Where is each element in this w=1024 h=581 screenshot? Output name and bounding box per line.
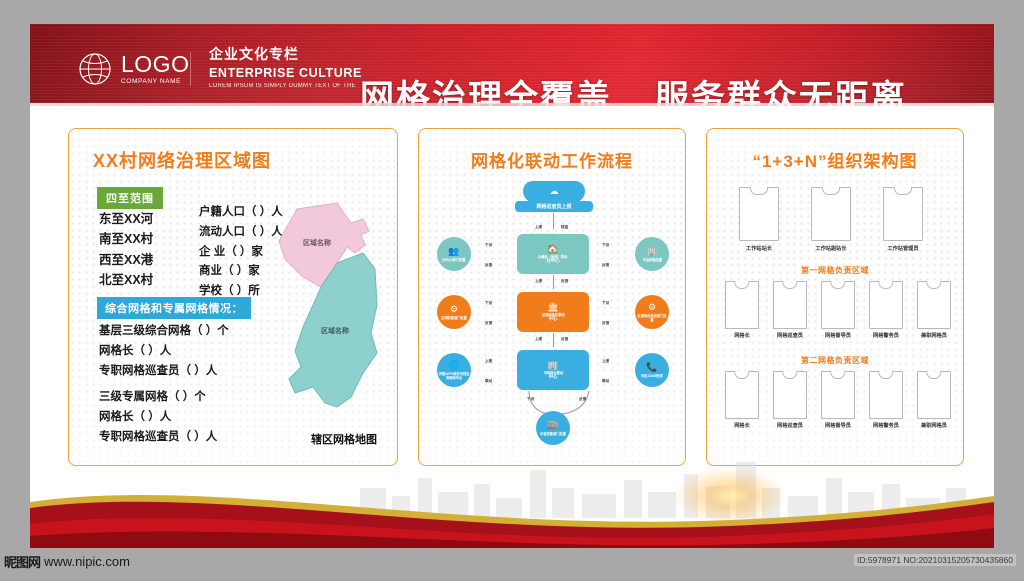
org-card-top: [883, 187, 923, 241]
org-card-label: 兼职网格员: [913, 422, 955, 429]
poster-canvas: LOGO COMPANY NAME 企业文化专栏 ENTERPRISE CULT…: [30, 24, 994, 548]
org-section-2-header: 第二网格负责区域: [707, 355, 963, 366]
poster-footer-wave: [30, 462, 994, 548]
enterprise-block: 企业文化专栏 ENTERPRISE CULTURE LOREM IPSUM IS…: [209, 46, 362, 89]
svg-text:区域名称: 区域名称: [321, 326, 349, 335]
flow-arrow-down-0: 核查: [561, 225, 568, 230]
grid-item: 专职网格巡查员（ ）人: [99, 361, 229, 381]
flow-node-label-line1: 市网格化联动: [543, 371, 562, 375]
gear-icon: ⚙: [648, 302, 656, 312]
logo-main-text: LOGO: [121, 53, 189, 76]
org-card-label: 网格长: [721, 332, 763, 339]
org-card-grid: [773, 281, 807, 329]
network-icon: 🌐: [448, 360, 459, 370]
flow-arrow-feedback-1r: 反馈: [602, 321, 609, 326]
scope-item: 北至XX村: [99, 270, 153, 290]
flow-node-district-dept: ⚙ 区域职能部门处置: [437, 295, 471, 329]
home-icon: 🏠: [547, 244, 558, 254]
flow-node-label: 专业网格处置: [642, 258, 661, 262]
org-card-label: 工作站管理员: [883, 245, 923, 252]
header-divider: [190, 52, 191, 86]
flow-arrow-dispatch-0r: 下派: [602, 243, 609, 248]
city-hall-icon: 🏢: [547, 360, 558, 370]
flow-arrow-up-1: 上报: [535, 279, 542, 284]
main-title-part1: 网格治理全覆盖: [360, 79, 612, 106]
org-card-top: [739, 187, 779, 241]
org-card-label: 网格督导员: [817, 422, 859, 429]
org-card-label: 网格警务员: [865, 332, 907, 339]
flow-node-street-center: 🏠 办事处（街道）联动 分中心: [517, 234, 589, 274]
org-card-grid: [821, 371, 855, 419]
flow-arrow-up-2: 上报: [535, 337, 542, 342]
flow-arrow-dispatch-0l: 下派: [485, 243, 492, 248]
red-wave-shape: [30, 462, 994, 548]
org-card-label: 网格巡查员: [769, 422, 811, 429]
scope-tag: 四至范围: [97, 187, 163, 209]
svg-text:区域名称: 区域名称: [303, 238, 331, 247]
logo-sub-text: COMPANY NAME: [121, 79, 189, 86]
flow-arrow-feedback-bottom: 反馈: [579, 397, 586, 402]
org-card-label: 网格长: [721, 422, 763, 429]
flow-node-hotline: 📞 市民12345热线: [635, 353, 669, 387]
flow-node-label: 分中心/部门处置: [442, 258, 465, 262]
office-icon: 🏛: [547, 302, 558, 312]
org-card-grid: [821, 281, 855, 329]
image-id-tag: ID:5978971 NO:20210315205730435860: [854, 554, 1016, 566]
org-card-grid: [869, 371, 903, 419]
panel-workflow: 网格化联动工作流程 ☁ 网格巡查员上报 上报 核查 （系统自动生成案卷） 👥 分…: [418, 128, 686, 466]
org-card-grid: [917, 281, 951, 329]
org-card-grid: [917, 371, 951, 419]
flow-node-label-line2: 分中心: [546, 259, 559, 264]
grid-item: 三级专属网格（ ）个: [99, 387, 217, 407]
flow-node-professional-grid: 🏢 专业网格处置: [635, 237, 669, 271]
enterprise-en: ENTERPRISE CULTURE: [209, 66, 362, 80]
scope-list: 东至XX河 南至XX村 西至XX港 北至XX村: [99, 209, 153, 290]
flow-arrow-report-2l: 上报: [485, 359, 492, 364]
panel-org-chart: “1+3+N”组织架构图 工作站站长 工作站副站长 工作站管理员 第一网格负责区…: [706, 128, 964, 466]
enterprise-cn: 企业文化专栏: [209, 46, 362, 64]
grid-tag: 综合网格和专属网格情况：: [97, 297, 251, 319]
brand-logo: LOGO COMPANY NAME: [78, 52, 189, 86]
org-card-label: 网格警务员: [865, 422, 907, 429]
flow-arrow-dispatch-1r: 下派: [602, 301, 609, 306]
globe-icon: [78, 52, 112, 86]
org-section-1-header: 第一网格负责区域: [707, 265, 963, 276]
flow-arrow-down-2: 反馈: [561, 337, 568, 342]
flow-node-label: 区域职能部门处置: [441, 316, 467, 320]
flow-node-label: 区域综合执法部门处置: [636, 314, 667, 321]
poster-header: LOGO COMPANY NAME 企业文化专栏 ENTERPRISE CULT…: [30, 24, 994, 106]
nipic-url: www.nipic.com: [44, 554, 130, 569]
org-card-grid: [773, 371, 807, 419]
flow-node-city-departments: 🏬 市各职能部门处置: [536, 411, 570, 445]
flow-node-label-line2: 中心: [549, 317, 558, 322]
panel-region-map: XX村网络治理区域图 四至范围 东至XX河 南至XX村 西至XX港 北至XX村 …: [68, 128, 398, 466]
flow-arrow-dispatch-bottom: 下派: [527, 397, 534, 402]
grid-item: 网格长（ ）人: [99, 341, 229, 361]
grid-group-2: 三级专属网格（ ）个 网格长（ ）人 专职网格巡查员（ ）人: [99, 387, 217, 447]
grid-item: 网格长（ ）人: [99, 407, 217, 427]
flow-node-sub-center: 👥 分中心/部门处置: [437, 237, 471, 271]
flow-arrow-link-2r: 联动: [602, 379, 609, 384]
workflow-diagram: ☁ 网格巡查员上报 上报 核查 （系统自动生成案卷） 👥 分中心/部门处置 🏠 …: [419, 129, 685, 465]
flow-arrow-down-1: 反馈: [561, 279, 568, 284]
main-title-part2: 服务群众无距离: [655, 79, 907, 106]
watermark-bar: 昵图网 www.nipic.com ID:5978971 NO:20210315…: [0, 548, 1024, 581]
flow-arrow-feedback-0l: 反馈: [485, 263, 492, 268]
light-flare: [670, 466, 790, 526]
logo-text: LOGO COMPANY NAME: [121, 53, 189, 86]
flow-node-label-line1: 区域网格化联动: [542, 313, 565, 317]
poster-main-title: 网格治理全覆盖 服务群众无距离: [360, 70, 907, 106]
grid-item: 专职网格巡查员（ ）人: [99, 427, 217, 447]
flow-cloud-label: 网格巡查员上报: [515, 201, 593, 212]
flow-node-label-line2: 中心: [549, 375, 558, 380]
flow-node-label: 市各职能部门处置: [540, 432, 566, 436]
flow-connector-v2: [553, 333, 554, 347]
flow-node-report-cloud: ☁: [523, 181, 585, 203]
org-card-grid: [725, 371, 759, 419]
phone-icon: 📞: [646, 362, 657, 372]
org-card-grid: [725, 281, 759, 329]
people-icon: 👥: [448, 246, 459, 256]
flow-node-label-line1: 办事处（街道）联动: [539, 255, 568, 259]
flow-connector-v0: [553, 213, 554, 229]
gear-icon: ⚙: [450, 304, 458, 314]
org-card-label: 兼职网格员: [913, 332, 955, 339]
flow-node-city-center: 🏢 市网格化联动 中心: [517, 350, 589, 390]
flow-arrow-report-2r: 上报: [602, 359, 609, 364]
panel-left-title: XX村网络治理区域图: [93, 147, 271, 173]
scope-item: 东至XX河: [99, 209, 153, 229]
flow-connector-v1: [553, 275, 554, 289]
flow-arrow-link-2l: 联动: [485, 379, 492, 384]
flow-node-label: 市民12345热线: [641, 374, 663, 378]
grid-group-1: 基层三级综合网格（ ）个 网格长（ ）人 专职网格巡查员（ ）人: [99, 321, 229, 381]
org-card-label: 网格督导员: [817, 332, 859, 339]
cloud-icon: ☁: [550, 186, 559, 196]
poster-body: XX村网络治理区域图 四至范围 东至XX河 南至XX村 西至XX港 北至XX村 …: [30, 106, 994, 486]
site-watermark: 昵图网 www.nipic.com: [4, 552, 130, 571]
org-card-grid: [869, 281, 903, 329]
org-card-top: [811, 187, 851, 241]
flow-arrow-feedback-1l: 反馈: [485, 321, 492, 326]
org-card-label: 工作站站长: [739, 245, 779, 252]
flow-node-network-platform: 🌐 天眼/APP/政务专线各类网络平台: [437, 353, 471, 387]
flow-arrow-up-0: 上报: [535, 225, 542, 230]
building-icon: 🏢: [646, 246, 657, 256]
departments-icon: 🏬: [547, 420, 558, 430]
region-map-graphic: 区域名称 区域名称: [251, 201, 391, 451]
panel-right-title: “1+3+N”组织架构图: [707, 147, 963, 172]
flow-node-label: 天眼/APP/政务专线各类网络平台: [438, 372, 469, 379]
org-card-label: 工作站副站长: [811, 245, 851, 252]
nipic-logo: 昵图网: [4, 552, 40, 571]
flow-arrow-feedback-0r: 反馈: [602, 263, 609, 268]
grid-item: 基层三级综合网格（ ）个: [99, 321, 229, 341]
scope-item: 南至XX村: [99, 229, 153, 249]
flow-arrow-dispatch-1l: 下派: [485, 301, 492, 306]
map-caption: 辖区网格地图: [311, 431, 377, 447]
org-card-label: 网格巡查员: [769, 332, 811, 339]
scope-item: 西至XX港: [99, 250, 153, 270]
enterprise-lorem: LOREM IPSUM IS SIMPLY DUMMY TEXT OF THE: [209, 83, 362, 89]
flow-node-district-enforcement: ⚙ 区域综合执法部门处置: [635, 295, 669, 329]
flow-node-district-center: 🏛 区域网格化联动 中心: [517, 292, 589, 332]
